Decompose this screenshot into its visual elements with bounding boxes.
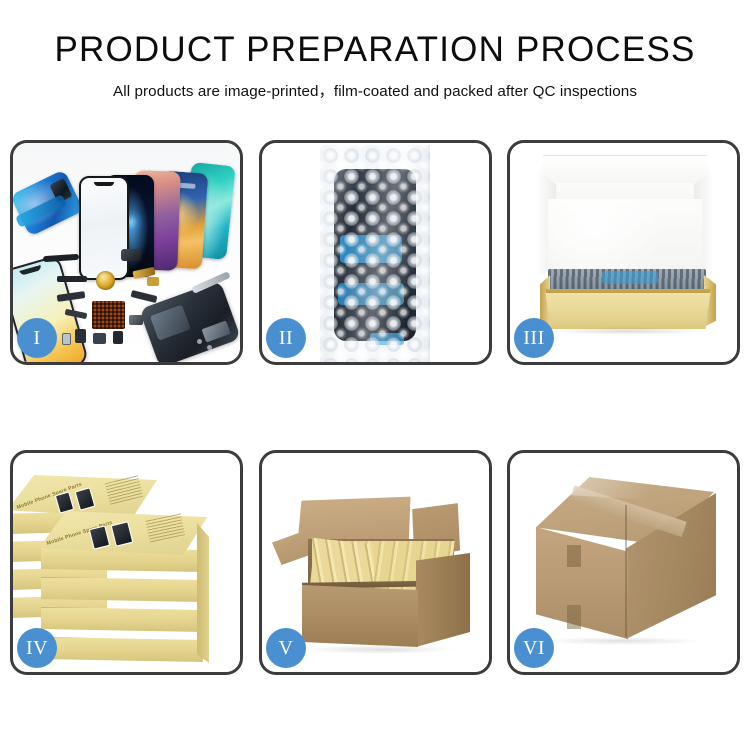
stacked-box-front-2 [41, 577, 203, 602]
screw-part-2 [207, 345, 212, 350]
carton-vertical-edge [625, 505, 627, 637]
step-badge-3: III [514, 318, 554, 358]
screw-part-1 [197, 339, 202, 344]
step-badge-6: VI [514, 628, 554, 668]
step-badge-2: II [266, 318, 306, 358]
step-badge-5: V [266, 628, 306, 668]
gold-chip-part [147, 277, 159, 286]
flex-cable-part-4 [57, 276, 87, 282]
page-subtitle: All products are image-printed，film-coat… [0, 79, 750, 101]
step-panel-2: II [259, 140, 492, 365]
step-panel-4: Mobile Phone Spare Parts Mobile Phone Sp… [10, 450, 243, 675]
foam-lining [548, 199, 702, 271]
step-panel-1: I [10, 140, 243, 365]
chip-part-1 [75, 329, 86, 343]
carton-seam-tab-top [567, 545, 581, 567]
stacked-box-front-4 [41, 637, 203, 662]
gold-coil-part [96, 271, 115, 290]
header: PRODUCT PREPARATION PROCESS All products… [0, 0, 750, 101]
carton-side-panel [416, 553, 470, 647]
mailer-box-front-panel [542, 293, 714, 329]
drop-shadow [548, 327, 706, 335]
blue-film-accent [602, 271, 658, 284]
stacked-box-front-3 [41, 607, 203, 632]
chip-part-2 [93, 333, 106, 344]
plastic-sheen-overlay [320, 145, 430, 362]
drop-shadow [542, 637, 702, 645]
carton-front-panel [302, 585, 418, 647]
tempered-glass-screen-protector [79, 176, 129, 280]
drop-shadow [306, 645, 456, 654]
camera-module-part [121, 249, 141, 261]
carton-seam-tab-bottom [567, 605, 581, 629]
copper-mesh-part [92, 301, 125, 329]
chip-part-4 [129, 315, 143, 325]
sim-tray-part [62, 333, 71, 345]
step-panel-5: V [259, 450, 492, 675]
step-panel-3: III [507, 140, 740, 365]
step-badge-4: IV [17, 628, 57, 668]
process-step-grid: I II [10, 140, 740, 675]
step-badge-1: I [17, 318, 57, 358]
chip-part-3 [113, 331, 123, 344]
page-title: PRODUCT PREPARATION PROCESS [0, 32, 750, 69]
stack-right-side [197, 523, 209, 663]
step-panel-6: VI [507, 450, 740, 675]
